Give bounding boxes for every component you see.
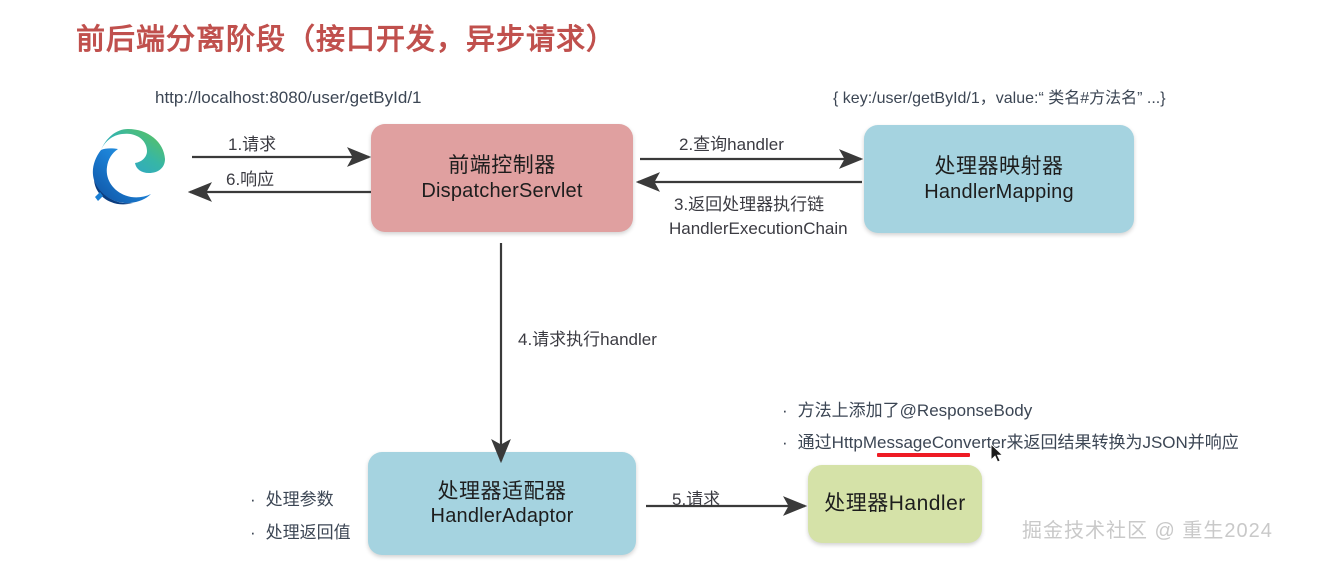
bullet-right-2-text: 通过HttpMessageConverter来返回结果转换为JSON并响应 xyxy=(798,428,1239,453)
arrow-label-3-sub: HandlerExecutionChain xyxy=(669,219,848,239)
arrow-label-4: 4.请求执行handler xyxy=(518,325,657,350)
bullet-left-1: · 处理参数 xyxy=(250,485,334,510)
arrow-label-6: 6.响应 xyxy=(226,165,274,190)
page-title: 前后端分离阶段（接口开发，异步请求） xyxy=(76,16,616,58)
arrow-label-1: 1.请求 xyxy=(228,130,276,155)
request-url-label: http://localhost:8080/user/getById/1 xyxy=(155,88,422,108)
node-mapping-cn: 处理器映射器 xyxy=(935,154,1064,180)
bullet-marker-icon: · xyxy=(782,434,788,451)
bullet-right-1: · 方法上添加了@ResponseBody xyxy=(782,396,1032,421)
node-handler[interactable]: 处理器Handler xyxy=(808,465,982,543)
node-mapping-en: HandlerMapping xyxy=(924,180,1074,204)
arrow-label-2: 2.查询handler xyxy=(679,130,784,155)
arrow-label-3: 3.返回处理器执行链 xyxy=(674,190,824,215)
arrow-label-5: 5.请求 xyxy=(672,485,720,510)
diagram-canvas: 前后端分离阶段（接口开发，异步请求） http://localhost:8080… xyxy=(0,0,1326,562)
mapping-note-label: { key:/user/getById/1，value:“ 类名#方法名” ..… xyxy=(833,84,1166,108)
node-dispatcher-cn: 前端控制器 xyxy=(448,153,556,179)
bullet-right-1-text: 方法上添加了@ResponseBody xyxy=(798,396,1033,421)
bullet-marker-icon: · xyxy=(250,524,256,541)
bullet-marker-icon: · xyxy=(782,402,788,419)
node-dispatcher-en: DispatcherServlet xyxy=(421,179,582,203)
bullet-left-1-text: 处理参数 xyxy=(266,485,334,510)
mouse-cursor-icon xyxy=(990,443,1004,463)
node-dispatcher-servlet[interactable]: 前端控制器 DispatcherServlet xyxy=(371,124,633,232)
node-handler-adaptor[interactable]: 处理器适配器 HandlerAdaptor xyxy=(368,452,636,555)
bullet-left-2-text: 处理返回值 xyxy=(266,518,351,543)
bullet-marker-icon: · xyxy=(250,491,256,508)
bullet-right-2: · 通过HttpMessageConverter来返回结果转换为JSON并响应 xyxy=(782,428,1239,453)
node-adaptor-cn: 处理器适配器 xyxy=(438,479,567,505)
node-handler-mapping[interactable]: 处理器映射器 HandlerMapping xyxy=(864,125,1134,233)
red-underline-highlight xyxy=(877,453,970,457)
edge-browser-icon xyxy=(86,126,170,206)
watermark: 掘金技术社区 @ 重生2024 xyxy=(1022,514,1273,543)
node-handler-cn: 处理器Handler xyxy=(824,491,966,517)
node-adaptor-en: HandlerAdaptor xyxy=(431,504,574,528)
bullet-left-2: · 处理返回值 xyxy=(250,518,351,543)
